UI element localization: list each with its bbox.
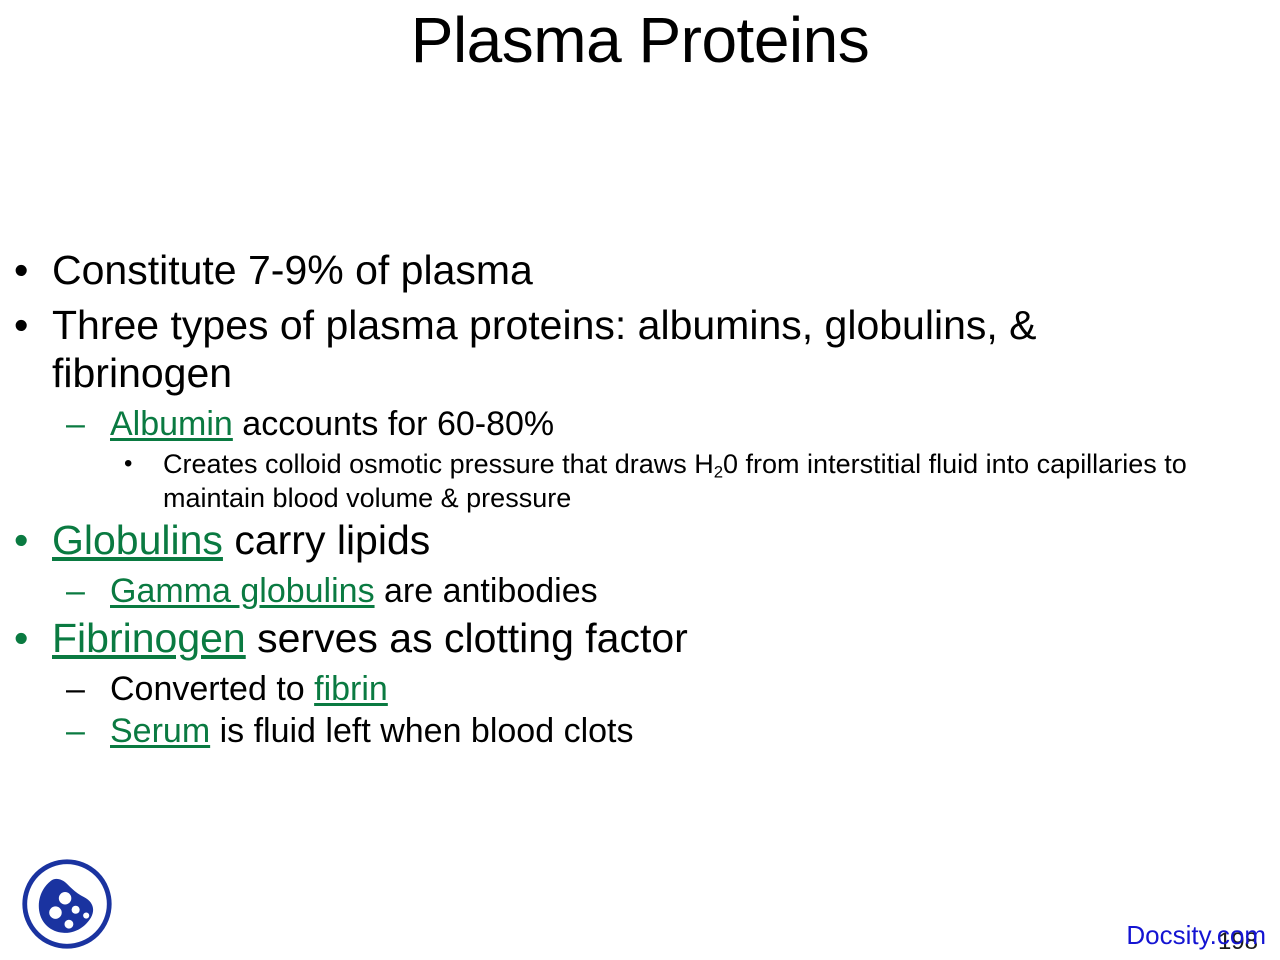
list-item: – Albumin accounts for 60-80%: [0, 405, 1280, 445]
list-item-text: are antibodies: [375, 572, 598, 610]
bullet-marker-icon: •: [124, 448, 132, 479]
subscript-two: 2: [714, 462, 723, 481]
list-item: – Serum is fluid left when blood clots: [0, 712, 1280, 752]
list-item-text: Constitute 7-9% of plasma: [52, 247, 533, 293]
key-term-fibrinogen: Fibrinogen: [52, 615, 246, 661]
list-item: • Globulins carry lipids: [0, 517, 1280, 565]
list-item-text: Three types of plasma proteins: albumins…: [52, 302, 1037, 396]
key-term-fibrin: fibrin: [314, 670, 388, 708]
key-term-gamma-globulins: Gamma globulins: [110, 572, 375, 610]
list-item-text: is fluid left when blood clots: [210, 712, 633, 750]
list-item: • Three types of plasma proteins: albumi…: [0, 302, 1280, 398]
dash-marker-icon: –: [66, 670, 85, 710]
key-term-albumin: Albumin: [110, 405, 233, 443]
key-term-serum: Serum: [110, 712, 210, 750]
list-item: – Gamma globulins are antibodies: [0, 572, 1280, 612]
dash-marker-icon: –: [66, 712, 85, 752]
key-term-globulins: Globulins: [52, 517, 223, 563]
bullet-marker-icon: •: [14, 302, 28, 350]
docsity-logo: [19, 856, 115, 952]
bullet-marker-icon: •: [14, 615, 28, 663]
bullet-marker-icon: •: [14, 517, 28, 565]
list-item-text: accounts for 60-80%: [233, 405, 554, 443]
list-item-text-before: Creates colloid osmotic pressure that dr…: [163, 449, 714, 479]
page-title: Plasma Proteins: [0, 8, 1280, 72]
list-item-text: serves as clotting factor: [246, 615, 688, 661]
list-item-text: carry lipids: [223, 517, 430, 563]
dash-marker-icon: –: [66, 572, 85, 612]
list-item: – Converted to fibrin: [0, 670, 1280, 710]
footer-brand: Docsity.com: [1126, 920, 1266, 951]
list-item-text-before: Converted to: [110, 670, 314, 708]
slide-body: • Constitute 7-9% of plasma • Three type…: [0, 247, 1280, 755]
list-item: • Fibrinogen serves as clotting factor: [0, 615, 1280, 663]
dash-marker-icon: –: [66, 405, 85, 445]
list-item: • Creates colloid osmotic pressure that …: [0, 448, 1280, 515]
bullet-marker-icon: •: [14, 247, 28, 295]
list-item: • Constitute 7-9% of plasma: [0, 247, 1280, 295]
